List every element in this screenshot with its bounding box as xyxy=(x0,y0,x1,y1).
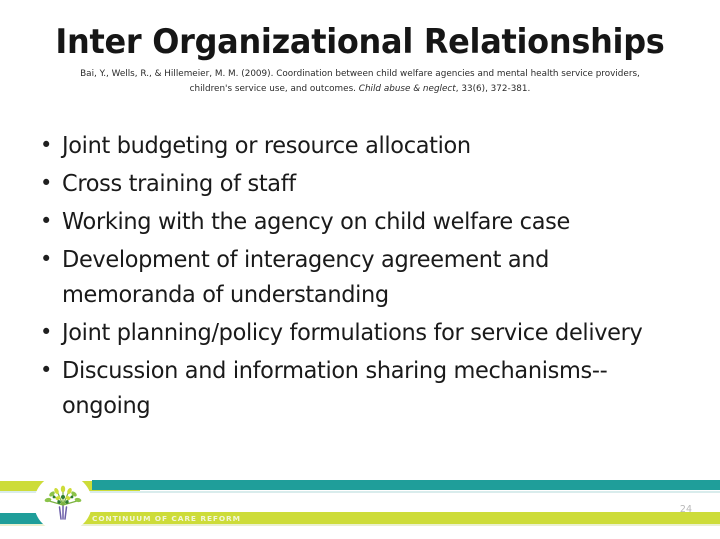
list-item: • Working with the agency on child welfa… xyxy=(34,204,694,239)
list-item-label: Working with the agency on child welfare… xyxy=(62,204,666,239)
slide-footer: CONTINUUM OF CARE REFORM 24 xyxy=(0,462,720,539)
list-item-label: Joint budgeting or resource allocation xyxy=(62,128,666,163)
page-title: Inter Organizational Relationships xyxy=(22,22,699,62)
list-item-label: Cross training of staff xyxy=(62,166,666,201)
list-item: • Cross training of staff xyxy=(34,166,694,201)
list-item-label: Joint planning/policy formulations for s… xyxy=(62,315,666,350)
bullet-marker-icon: • xyxy=(34,315,62,350)
footer-bar-teal-right xyxy=(92,480,720,490)
list-item-label: Development of interagency agreement and… xyxy=(62,242,666,312)
footer-wash-line-top xyxy=(0,491,720,493)
slide-canvas: Inter Organizational Relationships Bai, … xyxy=(0,0,720,539)
bullet-marker-icon: • xyxy=(34,128,62,163)
citation-reference: Bai, Y., Wells, R., & Hillemeier, M. M. … xyxy=(74,67,646,96)
bullet-marker-icon: • xyxy=(34,166,62,201)
list-item: • Joint budgeting or resource allocation xyxy=(34,128,694,163)
bullet-marker-icon: • xyxy=(34,242,62,277)
bullet-list: • Joint budgeting or resource allocation… xyxy=(34,128,694,426)
footer-wash-line-bottom xyxy=(0,524,720,526)
citation-journal-title: Child abuse & neglect xyxy=(359,83,456,94)
page-number: 24 xyxy=(680,504,692,515)
citation-text-after-journal: , 33(6), 372-381. xyxy=(456,83,531,94)
organization-label: CONTINUUM OF CARE REFORM xyxy=(92,514,241,523)
bullet-marker-icon: • xyxy=(34,353,62,388)
list-item: • Development of interagency agreement a… xyxy=(34,242,694,312)
bullet-marker-icon: • xyxy=(34,204,62,239)
list-item-label: Discussion and information sharing mecha… xyxy=(62,353,666,423)
list-item: • Discussion and information sharing mec… xyxy=(34,353,694,423)
tree-logo xyxy=(34,474,92,532)
list-item: • Joint planning/policy formulations for… xyxy=(34,315,694,350)
